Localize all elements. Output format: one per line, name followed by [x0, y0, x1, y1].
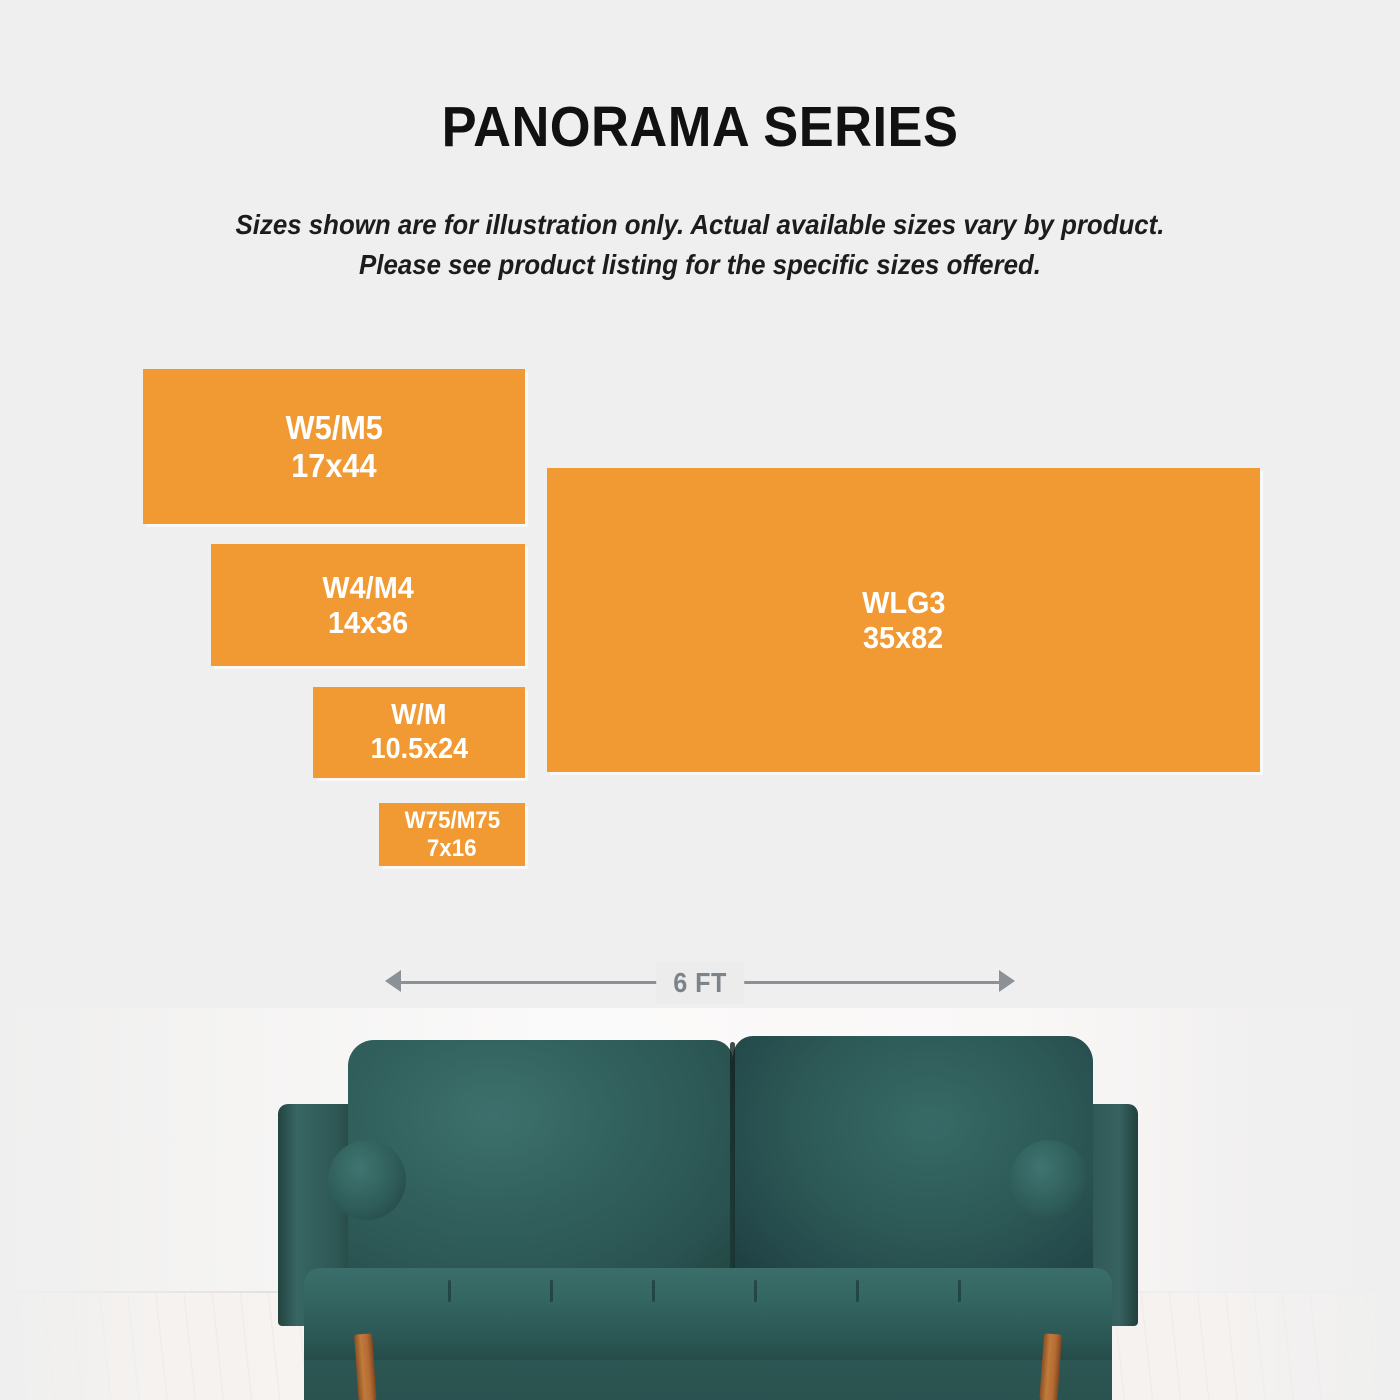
- sofa-tuft: [652, 1280, 655, 1302]
- size-box-dimensions: 35x82: [863, 620, 943, 655]
- sofa-bolster-left: [328, 1140, 406, 1220]
- size-box-code: WLG3: [862, 585, 945, 620]
- size-box-code: W/M: [391, 699, 446, 732]
- disclaimer-line-2: Please see product listing for the speci…: [42, 245, 1358, 285]
- sofa-tuft: [754, 1280, 757, 1302]
- size-box-dimensions: 14x36: [328, 605, 408, 640]
- scale-reference-dimension-line: 6 FT: [385, 962, 1015, 1004]
- room-scene-photo: [0, 1008, 1400, 1400]
- size-box-code: W75/M75: [404, 807, 500, 834]
- sofa-back-cushion-left: [348, 1040, 733, 1290]
- sofa-base: [304, 1360, 1112, 1400]
- size-chart-infographic: PANORAMA SERIES Sizes shown are for illu…: [0, 0, 1400, 1400]
- sofa-tuft: [550, 1280, 553, 1302]
- green-velvet-sofa: [278, 1018, 1138, 1400]
- scale-reference-label: 6 FT: [656, 962, 744, 1004]
- sofa-tuft: [856, 1280, 859, 1302]
- sofa-bolster-right: [1010, 1140, 1088, 1220]
- size-box-w4m4[interactable]: W4/M4 14x36: [211, 544, 525, 666]
- size-box-dimensions: 17x44: [291, 447, 376, 485]
- size-box-wlg3[interactable]: WLG3 35x82: [547, 468, 1260, 772]
- disclaimer-text: Sizes shown are for illustration only. A…: [42, 205, 1358, 285]
- size-box-dimensions: 10.5x24: [370, 733, 467, 766]
- size-box-w5m5[interactable]: W5/M5 17x44: [143, 369, 525, 524]
- sofa-seat-cushion: [304, 1268, 1112, 1368]
- disclaimer-line-1: Sizes shown are for illustration only. A…: [42, 205, 1358, 245]
- size-box-dimensions: 7x16: [427, 835, 477, 862]
- sofa-back-seam: [730, 1042, 735, 1288]
- page-title: PANORAMA SERIES: [56, 98, 1344, 158]
- arrow-right-icon: [999, 970, 1015, 992]
- scale-reference-value: 6 FT: [673, 963, 727, 1003]
- size-box-code: W5/M5: [285, 409, 382, 447]
- sofa-tuft: [448, 1280, 451, 1302]
- size-box-code: W4/M4: [322, 570, 413, 605]
- size-box-wm[interactable]: W/M 10.5x24: [313, 687, 525, 778]
- sofa-tuft: [958, 1280, 961, 1302]
- size-box-w75m75[interactable]: W75/M75 7x16: [379, 803, 525, 866]
